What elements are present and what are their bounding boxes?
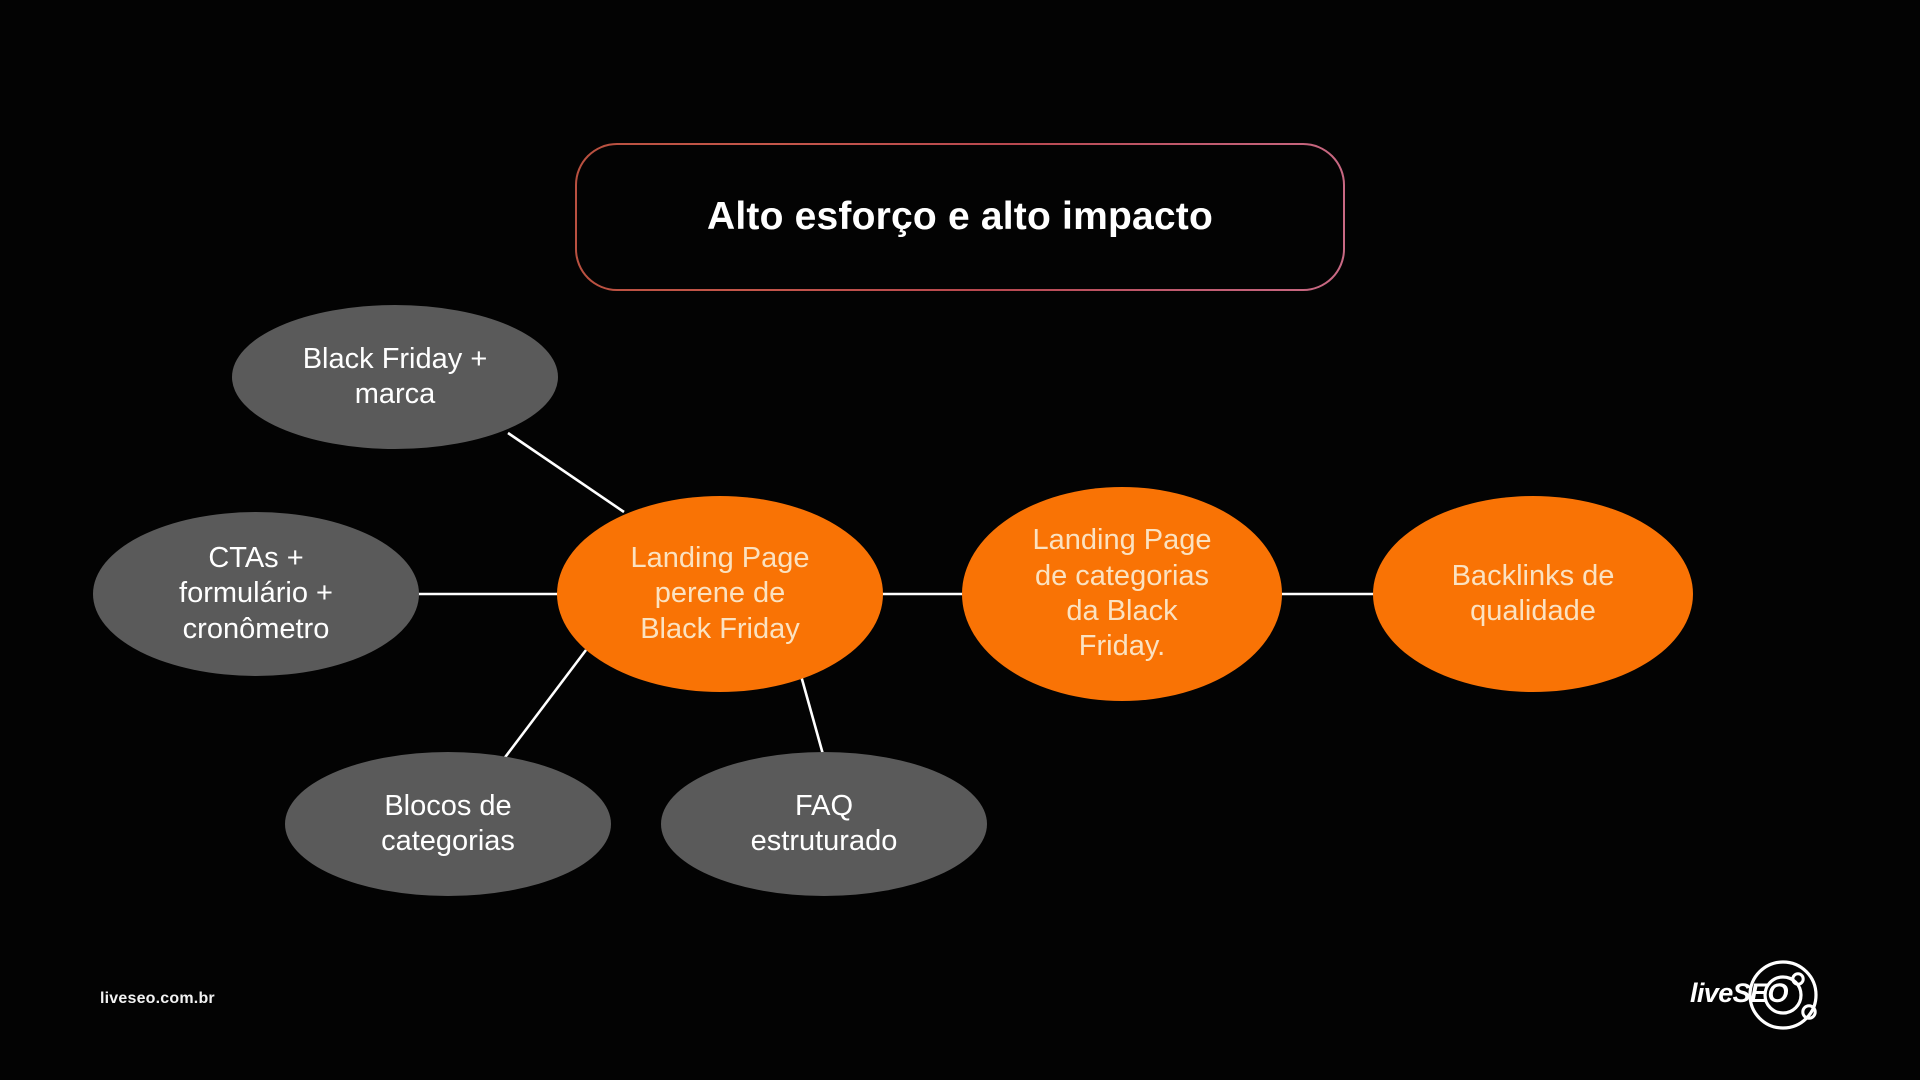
- slide-title-box-inner: Alto esforço e alto impacto: [577, 145, 1343, 289]
- diagram-node-lp-perene[interactable]: Landing Pageperene deBlack Friday: [557, 496, 883, 692]
- diagram-node-label: Landing Pagede categoriasda BlackFriday.: [1023, 523, 1222, 665]
- diagram-node-backlinks-qualidade[interactable]: Backlinks dequalidade: [1373, 496, 1693, 692]
- liveseo-orbit-logo-icon: liveSEO: [1688, 955, 1838, 1035]
- slide-canvas: Alto esforço e alto impacto Black Friday…: [0, 0, 1920, 1080]
- diagram-node-label: Blocos decategorias: [371, 789, 525, 860]
- slide-title-box: Alto esforço e alto impacto: [575, 143, 1345, 291]
- connector-line: [500, 650, 586, 764]
- diagram-node-label: Landing Pageperene deBlack Friday: [621, 541, 820, 647]
- diagram-node-black-friday-marca[interactable]: Black Friday +marca: [232, 305, 558, 449]
- diagram-node-faq-estruturado[interactable]: FAQestruturado: [661, 752, 987, 896]
- connector-line: [508, 433, 624, 512]
- page-title: Alto esforço e alto impacto: [707, 195, 1213, 239]
- diagram-node-ctas-formulario[interactable]: CTAs +formulário +cronômetro: [93, 512, 419, 676]
- diagram-node-label: FAQestruturado: [741, 789, 908, 860]
- site-url: liveseo.com.br: [100, 990, 215, 1008]
- diagram-node-lp-categorias[interactable]: Landing Pagede categoriasda BlackFriday.: [962, 487, 1282, 701]
- diagram-node-label: Backlinks dequalidade: [1442, 559, 1625, 630]
- logo-wordmark: liveSEO: [1690, 978, 1788, 1009]
- diagram-node-label: CTAs +formulário +cronômetro: [169, 541, 343, 647]
- connector-line: [800, 672, 824, 758]
- diagram-node-label: Black Friday +marca: [293, 342, 498, 413]
- diagram-node-blocos-categorias[interactable]: Blocos decategorias: [285, 752, 611, 896]
